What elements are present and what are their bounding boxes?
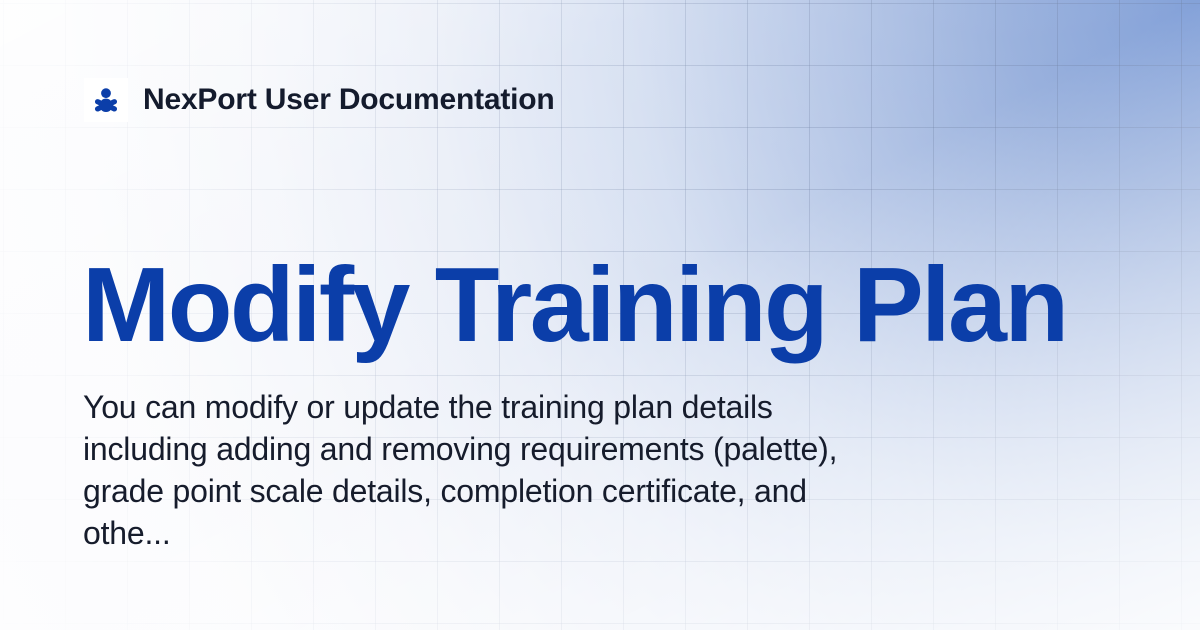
brand-name: NexPort User Documentation: [143, 85, 555, 115]
page-title: Modify Training Plan: [82, 248, 1067, 362]
person-figure-icon: [84, 78, 128, 122]
brand-header: NexPort User Documentation: [84, 78, 555, 122]
card-content: NexPort User Documentation Modify Traini…: [0, 0, 1200, 630]
page-description: You can modify or update the training pl…: [83, 386, 843, 554]
og-card: NexPort User Documentation Modify Traini…: [0, 0, 1200, 630]
